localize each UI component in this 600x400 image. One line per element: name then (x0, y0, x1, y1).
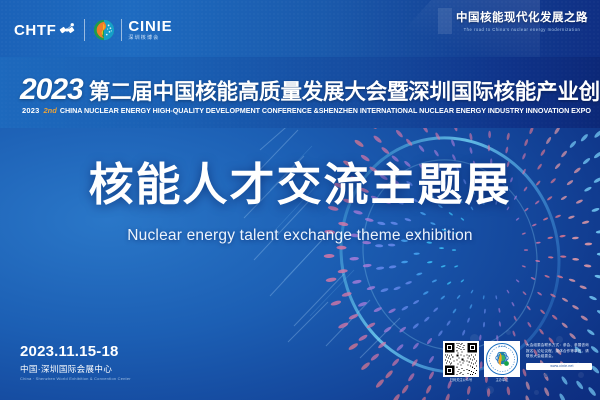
slogan-chinese: 中国核能现代化发展之路 (456, 12, 588, 25)
poster-canvas: CHTF (0, 0, 600, 400)
conference-english-year: 2023 (22, 106, 40, 115)
qr-code-caption: 扫码关注公众号 (443, 379, 479, 383)
svg-text:★ ★ ★: ★ ★ ★ (498, 345, 506, 348)
headline-block: 核能人才交流主题展 Nuclear energy talent exchange… (0, 162, 600, 245)
logo-divider (84, 19, 85, 41)
headline-chinese: 核能人才交流主题展 (0, 162, 600, 207)
conference-title-english: CHINA NUCLEAR ENERGY HIGH-QUALITY DEVELO… (60, 106, 591, 115)
organizer-badge-block[interactable]: ★ ★ ★ 主办单位 (484, 341, 520, 383)
contact-info-text: 大会组委会联系方式：参会、参展咨询报名、论坛议程、媒体合作等事宜，请联系大会组委… (526, 343, 592, 360)
conference-title-chinese: 第二届中国核能高质量发展大会暨深圳国际核能产业创新博览会 (89, 82, 600, 104)
decor-ray-lines (240, 120, 480, 370)
slogan-accent-bar (438, 8, 452, 34)
organizer-seal-icon[interactable]: ★ ★ ★ (484, 341, 520, 377)
globe-icon (544, 364, 548, 368)
logo-group: CHTF (14, 16, 172, 44)
decor-bubble (506, 330, 511, 335)
event-venue-english: China · Shenzhen World Exhibition & Conv… (20, 377, 131, 381)
slogan-english: The road to China's nuclear energy moder… (456, 28, 588, 32)
satellite-icon (58, 21, 76, 39)
headline-english: Nuclear energy talent exchange theme exh… (0, 227, 600, 245)
qr-code-icon[interactable] (443, 341, 479, 377)
slogan-block: 中国核能现代化发展之路 The road to China's nuclear … (456, 12, 588, 32)
conference-ordinal: 2nd (44, 106, 57, 115)
cinie-logo[interactable]: CINIE 深圳核博会 (128, 19, 172, 41)
conference-subtitle-row: 2023 2nd CHINA NUCLEAR ENERGY HIGH-QUALI… (22, 106, 591, 115)
decor-bubble (534, 390, 539, 395)
decor-bubble (486, 386, 494, 394)
footer-info-block: 2023.11.15-18 中国·深圳国际会展中心 China · Shenzh… (20, 344, 131, 381)
website-url-bar[interactable]: www.cinie.net (526, 363, 592, 370)
footer-contact-block: 扫码关注公众号 ★ ★ ★ 主办单位 (443, 341, 592, 383)
chtf-logo-text: CHTF (14, 22, 56, 39)
cinie-divider (121, 19, 122, 41)
event-date: 2023.11.15-18 (20, 344, 131, 361)
conference-year: 2023 (20, 76, 83, 103)
cinie-logo-subtitle: 深圳核博会 (128, 36, 172, 41)
conference-title-row: 2023 第二届中国核能高质量发展大会暨深圳国际核能产业创新博览会 (20, 76, 600, 103)
event-venue-chinese: 中国·深圳国际会展中心 (20, 365, 131, 374)
qr-code-block[interactable]: 扫码关注公众号 (443, 341, 479, 383)
website-url-text: www.cinie.net (550, 364, 573, 368)
cinie-globe-icon (93, 19, 115, 41)
chtf-logo[interactable]: CHTF (14, 21, 76, 39)
organizer-badge-caption: 主办单位 (484, 379, 520, 383)
cinie-logo-text: CINIE (128, 19, 172, 34)
contact-info-block: 大会组委会联系方式：参会、参展咨询报名、论坛议程、媒体合作等事宜，请联系大会组委… (526, 341, 592, 370)
